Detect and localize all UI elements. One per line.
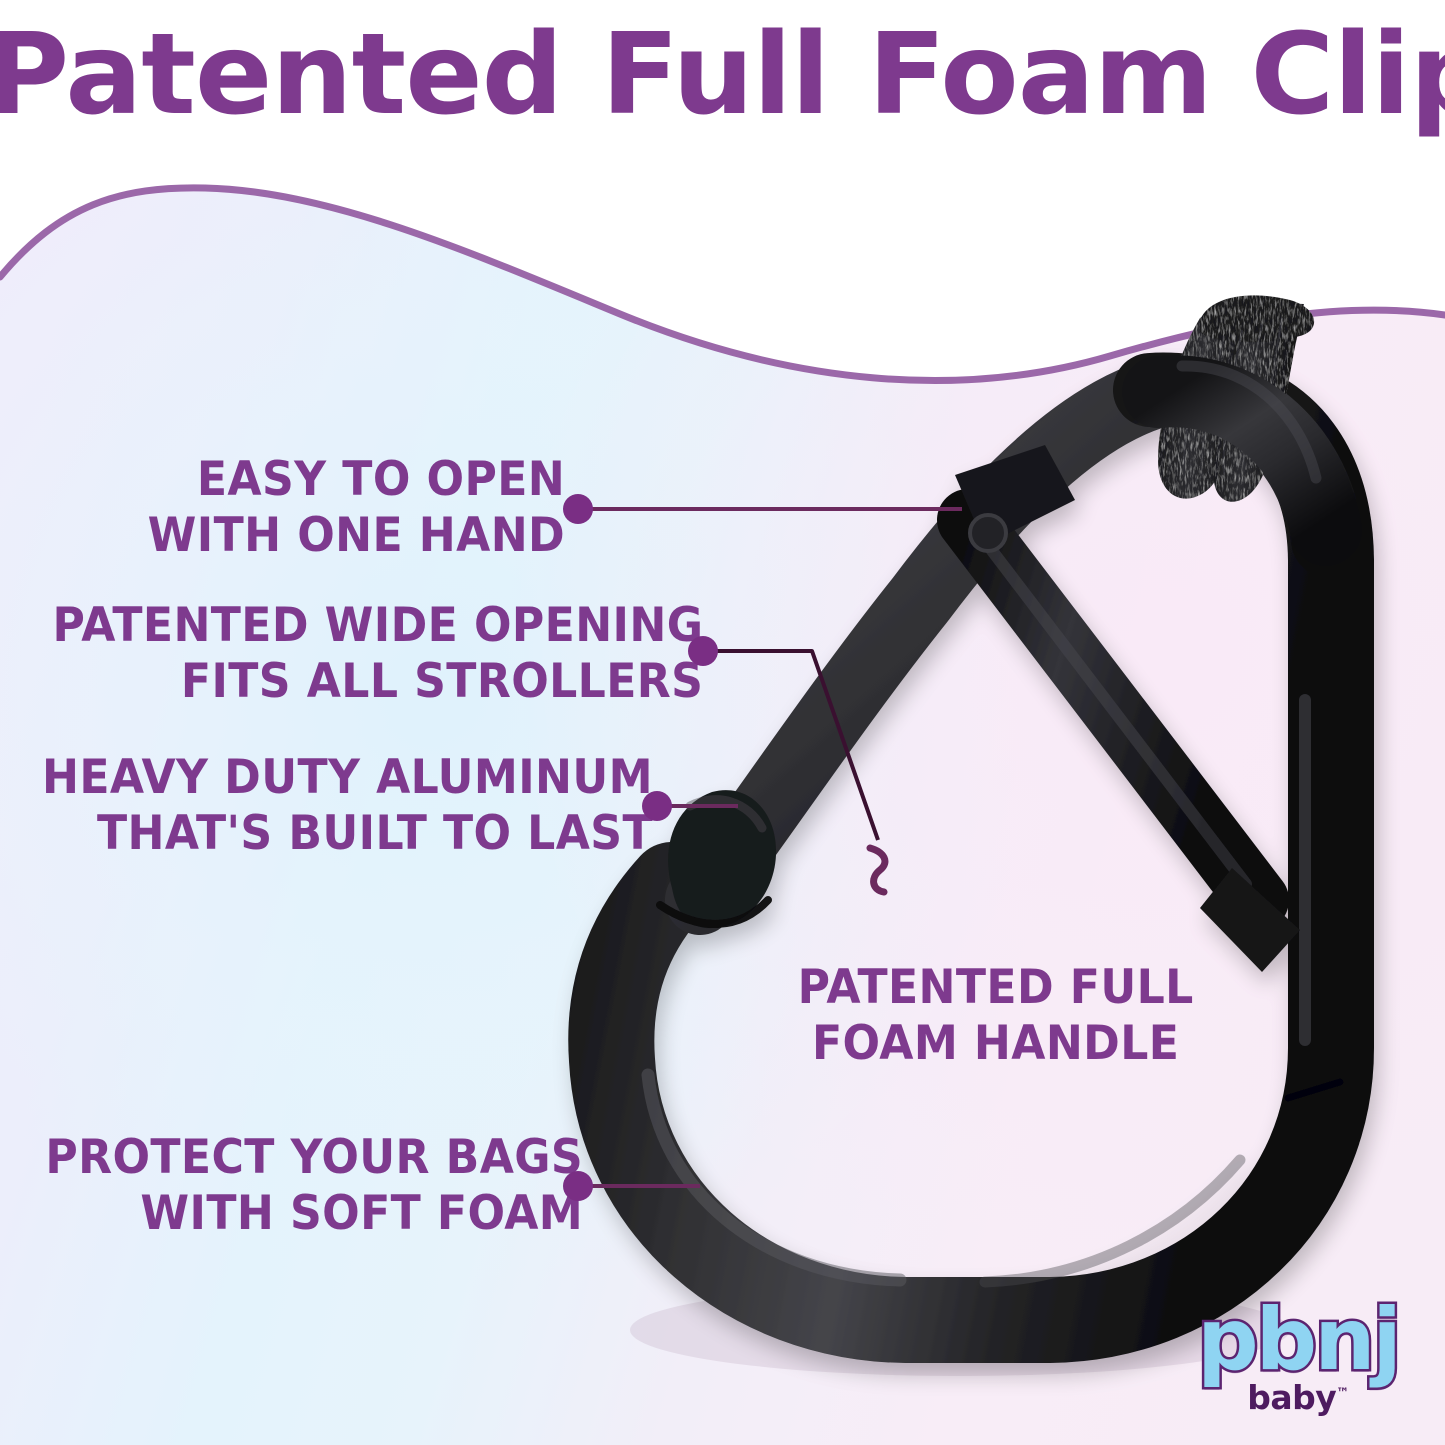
callout-patented-wide-opening: PATENTED WIDE OPENING FITS ALL STROLLERS (52, 598, 703, 711)
callout-heavy-duty-aluminum: HEAVY DUTY ALUMINUM THAT'S BUILT TO LAST (42, 750, 653, 863)
infographic-poster: Patented Full Foam Clip (0, 0, 1445, 1445)
trademark-symbol: ™ (1336, 1386, 1349, 1401)
callout-patented-full-foam-handle: PATENTED FULL FOAM HANDLE (798, 960, 1194, 1073)
callout-easy-to-open: EASY TO OPEN WITH ONE HAND (148, 452, 565, 565)
page-title: Patented Full Foam Clip (0, 18, 1445, 132)
logo-wordmark: pbnj (1173, 1301, 1423, 1380)
logo-sub-label: baby (1247, 1378, 1336, 1417)
callout-protect-your-bags: PROTECT YOUR BAGS WITH SOFT FOAM (45, 1130, 583, 1243)
brand-logo: pbnj baby™ (1173, 1301, 1423, 1429)
